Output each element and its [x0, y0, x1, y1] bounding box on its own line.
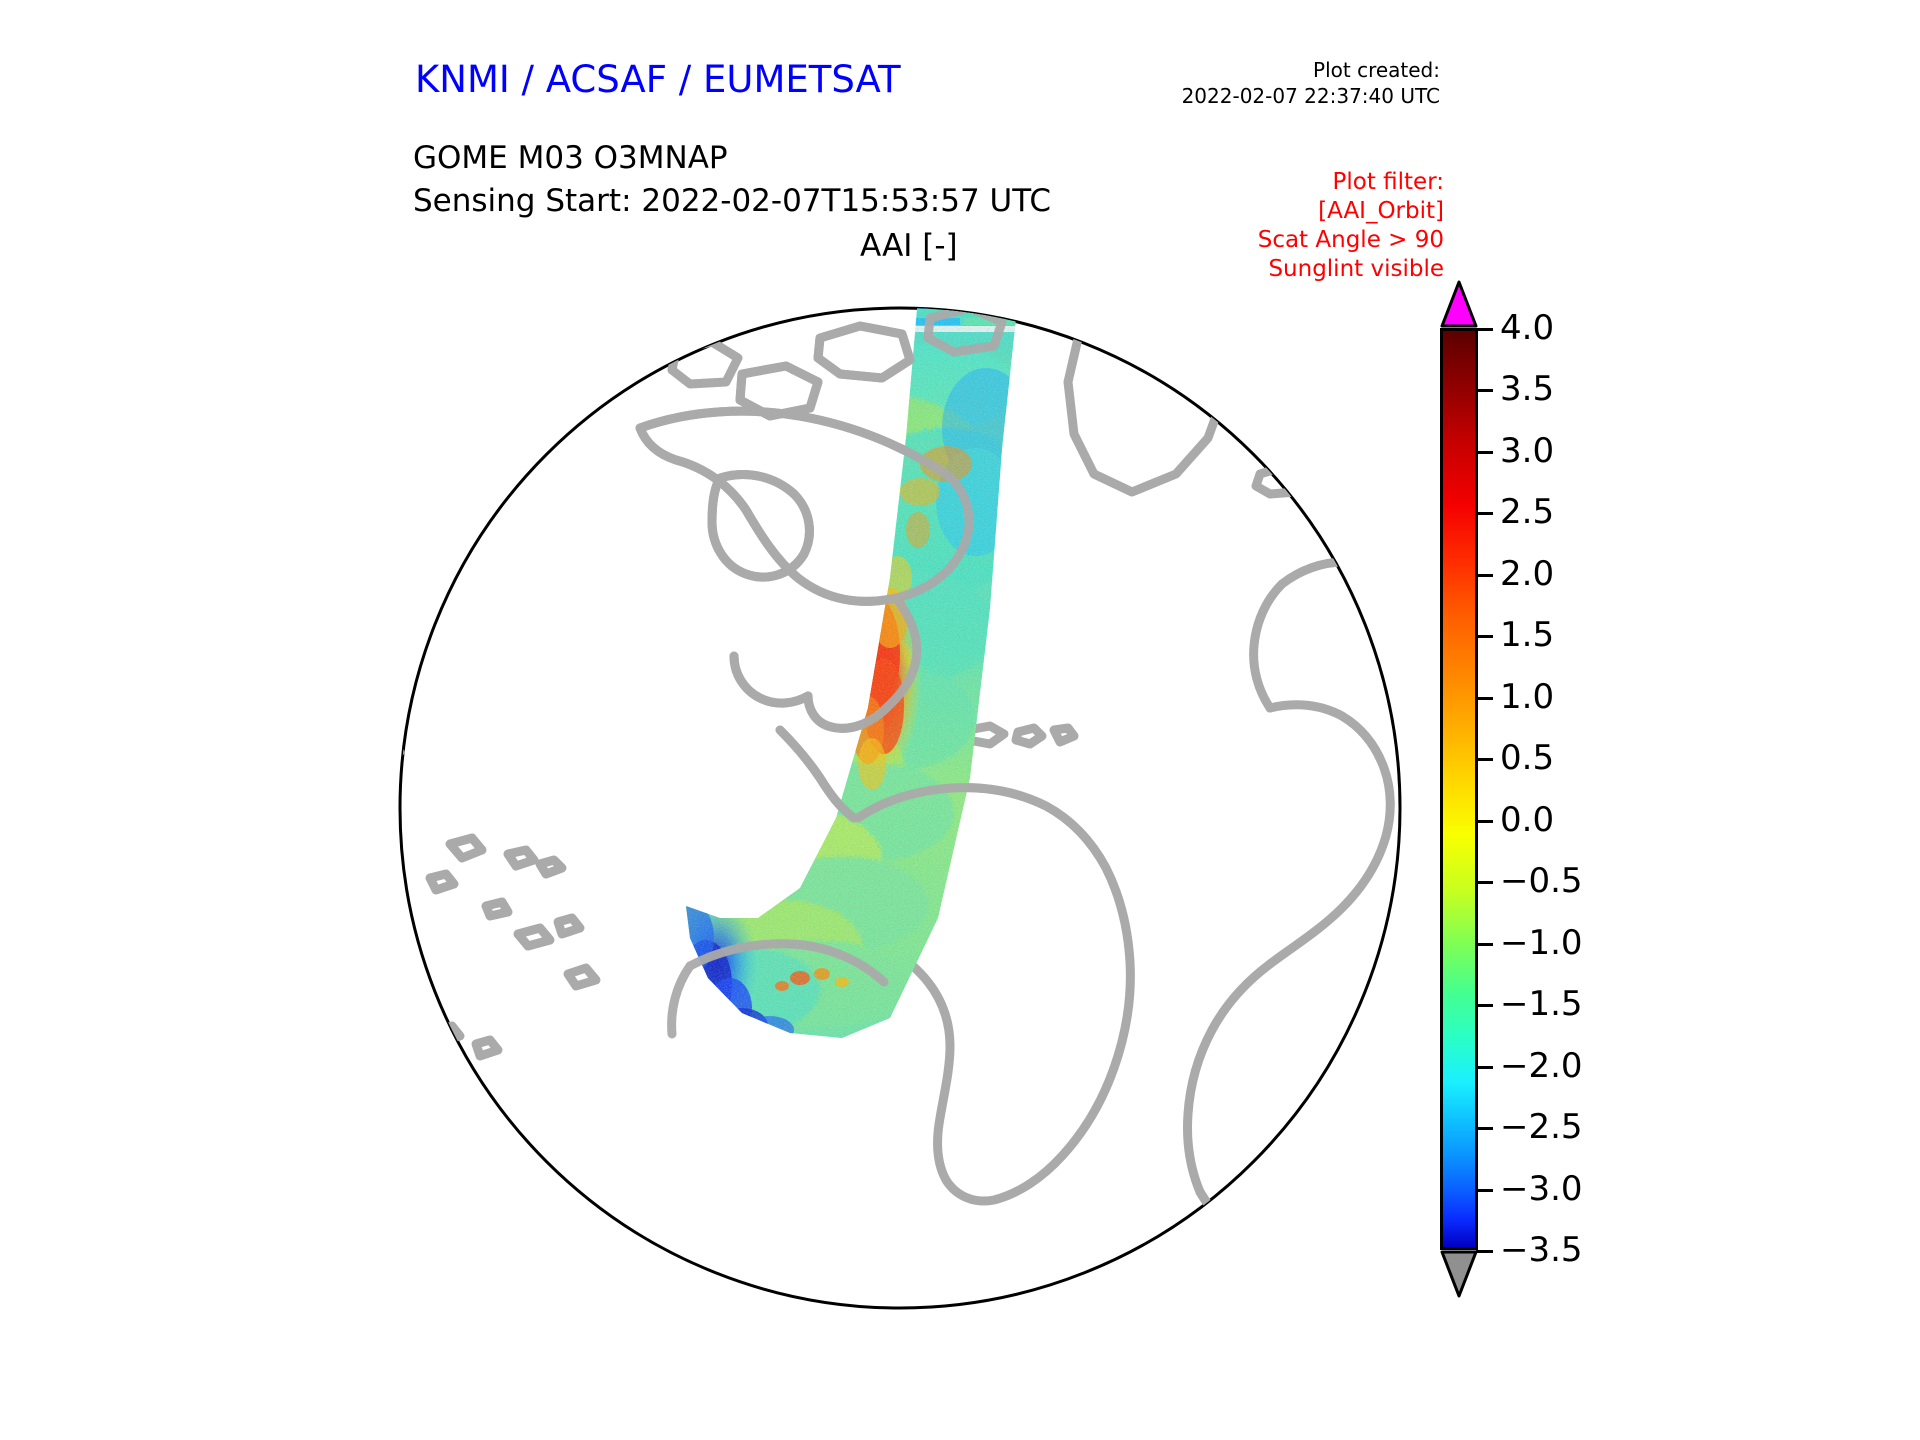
colorbar-label: −2.5 — [1500, 1107, 1583, 1147]
colorbar-tick — [1476, 820, 1493, 823]
colorbar-tick — [1476, 1004, 1493, 1007]
organisation-title: KNMI / ACSAF / EUMETSAT — [415, 58, 901, 101]
colorbar-gradient — [1440, 328, 1478, 1250]
colorbar-over-arrow — [1440, 280, 1478, 328]
colorbar-label: −1.5 — [1500, 984, 1583, 1024]
sensing-start-text: Sensing Start: 2022-02-07T15:53:57 UTC — [413, 183, 1051, 219]
colorbar-label: 3.0 — [1500, 431, 1554, 471]
colorbar-tick — [1476, 574, 1493, 577]
page-title: AAI [-] — [860, 228, 958, 264]
colorbar-label: 0.5 — [1500, 738, 1554, 778]
colorbar-tick — [1476, 512, 1493, 515]
colorbar-label: 4.0 — [1500, 308, 1554, 348]
plot-filter-name: [AAI_Orbit] — [1100, 197, 1444, 226]
colorbar-tick — [1476, 635, 1493, 638]
plot-created-block: Plot created: 2022-02-07 22:37:40 UTC — [1120, 57, 1440, 109]
colorbar-tick — [1476, 697, 1493, 700]
globe-svg — [390, 278, 1410, 1328]
colorbar-label: 2.5 — [1500, 492, 1554, 532]
colorbar-label: −1.0 — [1500, 923, 1583, 963]
colorbar-tick — [1476, 1189, 1493, 1192]
colorbar-tick — [1476, 389, 1493, 392]
colorbar-tick — [1476, 881, 1493, 884]
plot-filter-label: Plot filter: — [1100, 168, 1444, 197]
colorbar-tick — [1476, 758, 1493, 761]
plot-filter-block: Plot filter: [AAI_Orbit] Scat Angle > 90… — [1100, 168, 1444, 284]
colorbar-tick — [1476, 1066, 1493, 1069]
colorbar-tick — [1476, 1250, 1493, 1253]
product-name: GOME M03 O3MNAP — [413, 140, 728, 176]
colorbar-label: 1.0 — [1500, 677, 1554, 717]
plot-created-value: 2022-02-07 22:37:40 UTC — [1120, 83, 1440, 109]
colorbar-label: 2.0 — [1500, 554, 1554, 594]
plot-created-label: Plot created: — [1120, 57, 1440, 83]
plot-filter-scat-angle: Scat Angle > 90 — [1100, 226, 1444, 255]
colorbar-tick — [1476, 943, 1493, 946]
colorbar-tick — [1476, 1127, 1493, 1130]
globe-map — [390, 278, 1410, 1328]
colorbar-label: −3.5 — [1500, 1230, 1583, 1270]
colorbar-label: 0.0 — [1500, 800, 1554, 840]
colorbar: 4.0 3.5 3.0 2.5 2.0 1.5 1.0 0.5 0.0 −0.5… — [1430, 280, 1730, 1340]
colorbar-tick — [1476, 451, 1493, 454]
colorbar-label: 1.5 — [1500, 615, 1554, 655]
colorbar-label: −2.0 — [1500, 1046, 1583, 1086]
colorbar-under-arrow — [1440, 1250, 1478, 1298]
colorbar-label: 3.5 — [1500, 369, 1554, 409]
colorbar-tick — [1476, 328, 1493, 331]
colorbar-label: −3.0 — [1500, 1169, 1583, 1209]
colorbar-label: −0.5 — [1500, 861, 1583, 901]
